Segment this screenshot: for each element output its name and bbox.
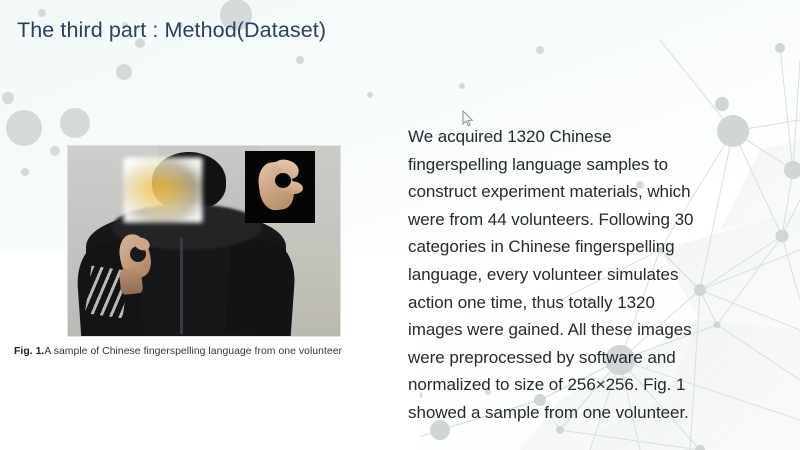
presentation-slide: The third part : Method(Dataset): [0, 0, 800, 450]
coat-zipper: [180, 238, 183, 334]
figure-caption: Fig. 1.A sample of Chinese fingerspellin…: [14, 346, 342, 357]
face-blur-overlay-highlight: [124, 158, 202, 222]
inset-hand-gap: [275, 173, 291, 188]
signing-hand-wrist: [119, 267, 144, 295]
slide-title: The third part : Method(Dataset): [17, 18, 326, 43]
coat-shoulder-right: [225, 238, 298, 336]
mouse-cursor-icon: [462, 110, 474, 127]
figure-caption-text: A sample of Chinese fingerspelling langu…: [44, 346, 342, 357]
inset-hand-panel: [245, 151, 315, 223]
body-paragraph: We acquired 1320 Chinese fingerspelling …: [408, 123, 708, 427]
figure-image: [68, 146, 340, 336]
volunteer-photo: [68, 146, 340, 336]
figure-caption-label: Fig. 1.: [14, 346, 44, 357]
